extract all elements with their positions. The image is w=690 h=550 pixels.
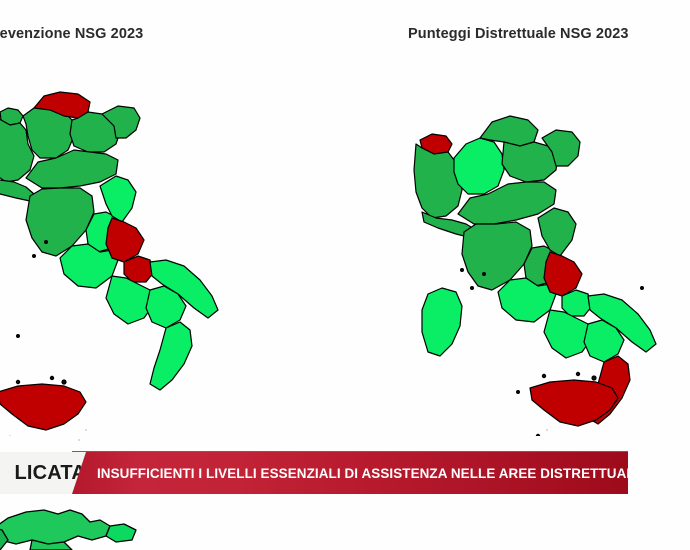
map-distrettuale [392,46,690,436]
banner-top-accent-line [72,451,628,452]
island-dot [50,376,53,379]
region-liguria [0,178,34,201]
island-dot [461,269,464,272]
island-dot [33,255,36,258]
region-name-label: LICATA [14,462,86,485]
island-dot [517,391,520,394]
island-dot [45,241,48,244]
island-dot [641,287,644,290]
bottom-region-shape-a [0,510,110,544]
lower-third-banner: LICATA INSUFFICIENTI I LIVELLI ESSENZIAL… [0,452,690,494]
broadcast-screen: ggi Prevenzione NSG 2023 Punteggi Distre… [0,0,690,550]
island-dot [471,287,474,290]
island-dot [62,380,66,384]
region-calabria [150,322,192,390]
island-dot [483,273,486,276]
region-campania [106,276,154,324]
region-lombardia [454,138,504,194]
region-molise [562,290,592,316]
compression-artifact [78,439,80,441]
island-dot [576,372,579,375]
island-dot [16,380,19,383]
bottom-region-svg [0,500,216,550]
region-molise [124,256,154,282]
bottom-map-fragment [0,500,216,550]
region-abruzzo [544,252,582,296]
island-dot [592,376,596,380]
italy-map-svg-left [0,46,252,436]
region-abruzzo [106,218,144,262]
italy-map-svg-right [392,46,690,436]
chart-title-left: ggi Prevenzione NSG 2023 [0,26,143,42]
bottom-region-shape-d [106,524,136,542]
island-dot [17,335,20,338]
map-prevenzione [0,46,252,436]
chart-title-right: Punteggi Distrettuale NSG 2023 [408,26,629,42]
region-sicilia [0,384,86,430]
region-piemonte [414,144,462,218]
island-dot [536,434,539,436]
compression-artifact [85,429,87,431]
compression-artifact [546,429,548,431]
headline-text: INSUFFICIENTI I LIVELLI ESSENZIALI DI AS… [72,465,639,481]
island-dot [542,374,545,377]
headline-bar: INSUFFICIENTI I LIVELLI ESSENZIALI DI AS… [72,452,628,494]
region-campania [544,310,592,358]
region-sardegna [422,288,462,356]
